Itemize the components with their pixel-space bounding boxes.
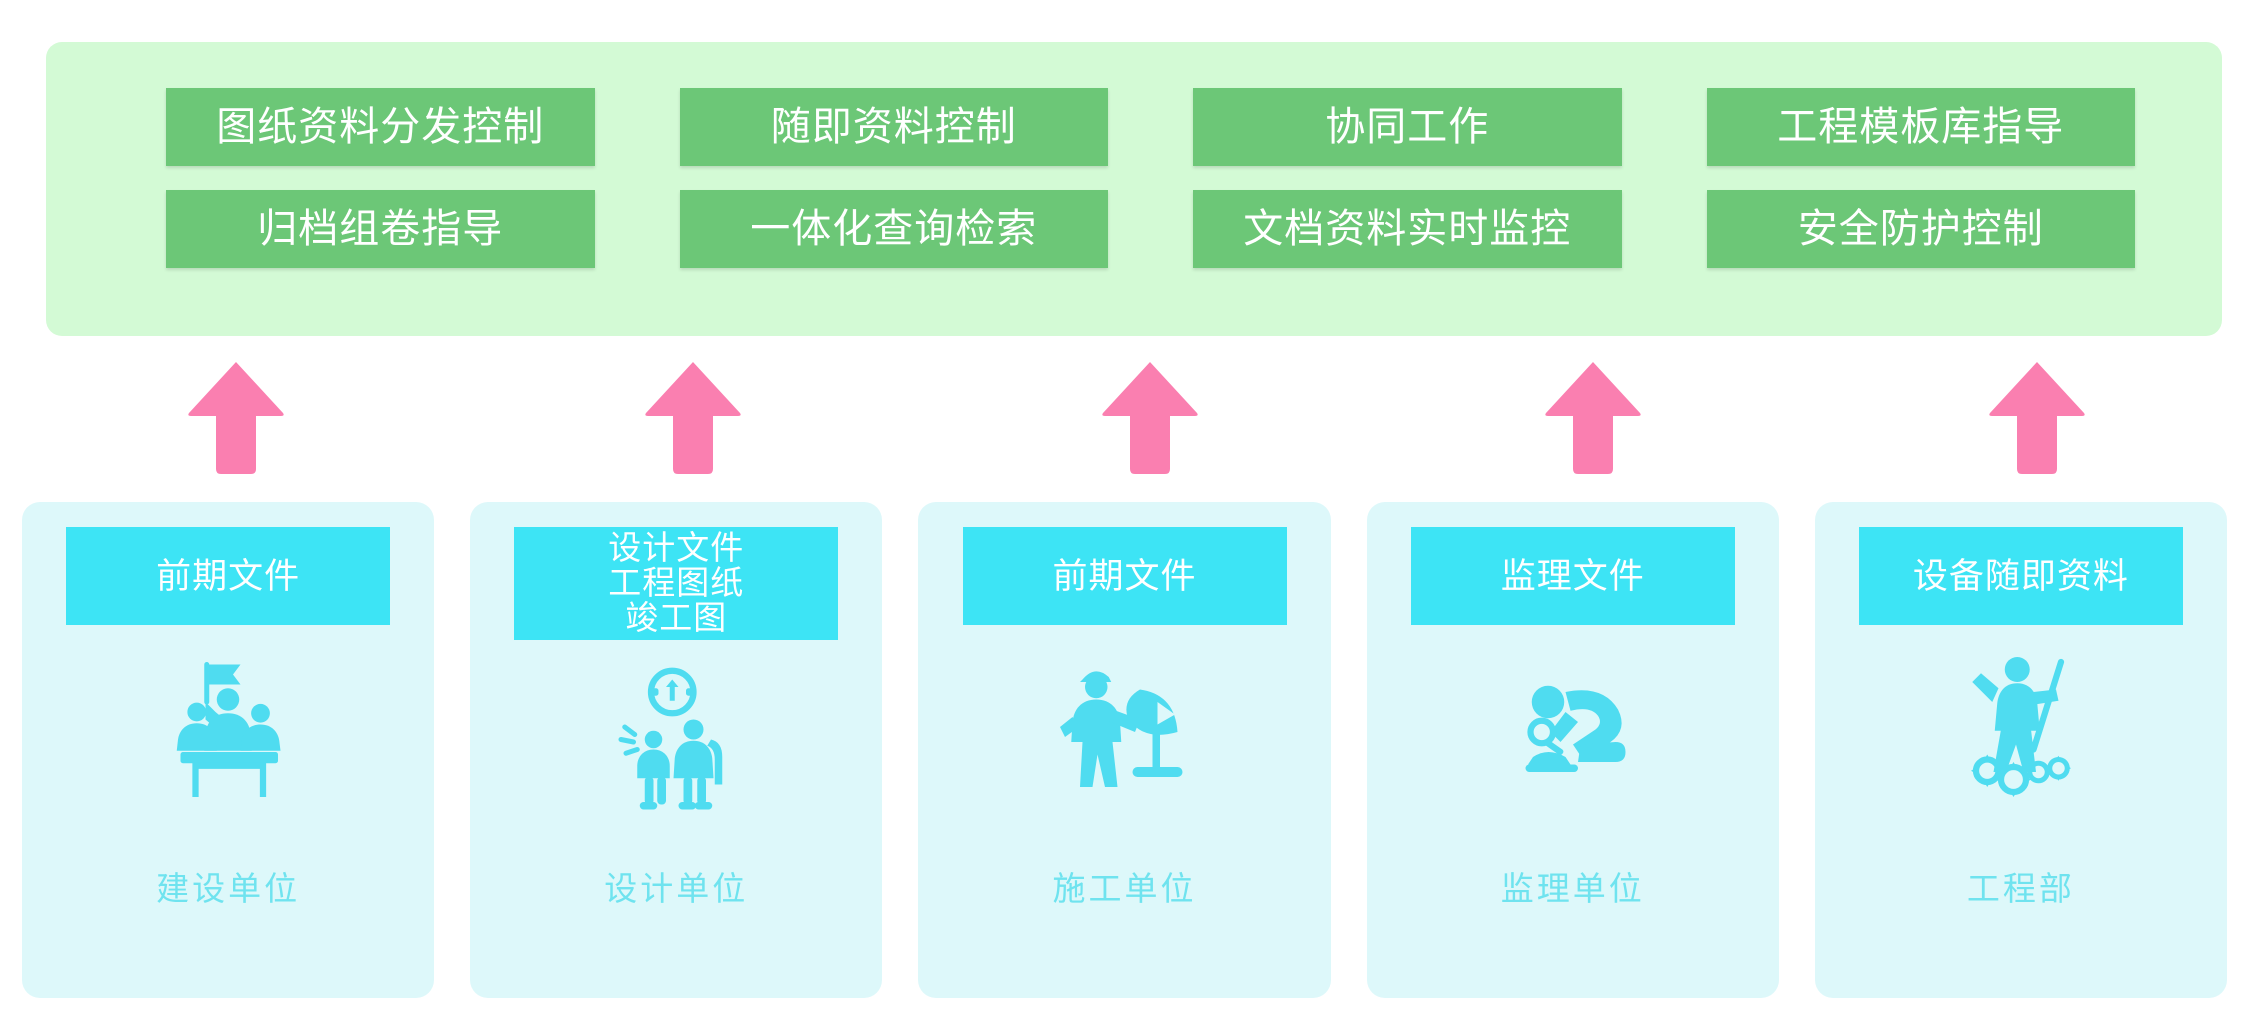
document-badge-4: 监理文件 bbox=[1411, 527, 1735, 625]
document-badge-line: 设备随即资料 bbox=[1913, 559, 2129, 594]
capability-chip-6[interactable]: 一体化查询检索 bbox=[680, 190, 1109, 268]
engineer-satellite-icon bbox=[1050, 647, 1200, 797]
up-arrow-icon-2 bbox=[643, 360, 743, 476]
designer-meeting-icon bbox=[601, 662, 751, 812]
document-badge-5: 设备随即资料 bbox=[1859, 527, 2183, 625]
capability-chip-8[interactable]: 安全防护控制 bbox=[1707, 190, 2136, 268]
participant-card-construction-unit[interactable]: 前期文件 bbox=[918, 502, 1330, 998]
capability-chip-5[interactable]: 归档组卷指导 bbox=[166, 190, 595, 268]
participant-label-2: 设计单位 bbox=[470, 862, 882, 910]
document-badge-line: 监理文件 bbox=[1501, 559, 1645, 594]
capability-grid: 图纸资料分发控制 随即资料控制 协同工作 工程模板库指导 归档组卷指导 一体化查… bbox=[166, 88, 2135, 290]
participant-card-design-unit[interactable]: 设计文件 工程图纸 竣工图 bbox=[470, 502, 882, 998]
participant-card-supervision-unit[interactable]: 监理文件 bbox=[1367, 502, 1779, 998]
document-badge-3: 前期文件 bbox=[963, 527, 1287, 625]
participant-label-3: 施工单位 bbox=[918, 862, 1330, 910]
capability-chip-2[interactable]: 随即资料控制 bbox=[680, 88, 1109, 166]
up-arrow-icon-4 bbox=[1543, 360, 1643, 476]
participant-cards-row: 前期文件 bbox=[22, 502, 2227, 998]
diagram-canvas: 图纸资料分发控制 随即资料控制 协同工作 工程模板库指导 归档组卷指导 一体化查… bbox=[0, 0, 2249, 1011]
capability-chip-1[interactable]: 图纸资料分发控制 bbox=[166, 88, 595, 166]
document-badge-1: 前期文件 bbox=[66, 527, 390, 625]
capability-chip-7[interactable]: 文档资料实时监控 bbox=[1193, 190, 1622, 268]
capability-chip-3[interactable]: 协同工作 bbox=[1193, 88, 1622, 166]
document-badge-line: 竣工图 bbox=[625, 601, 727, 636]
up-arrow-icon-1 bbox=[186, 360, 286, 476]
participant-label-4: 监理单位 bbox=[1367, 862, 1779, 910]
worker-gears-icon bbox=[1946, 647, 2096, 797]
up-arrow-icon-3 bbox=[1100, 360, 1200, 476]
document-badge-line: 前期文件 bbox=[156, 559, 300, 594]
participant-label-1: 建设单位 bbox=[22, 862, 434, 910]
document-badge-line: 设计文件 bbox=[608, 531, 744, 566]
participant-label-5: 工程部 bbox=[1815, 862, 2227, 910]
participant-card-engineering-dept[interactable]: 设备随即资料 bbox=[1815, 502, 2227, 998]
document-badge-line: 前期文件 bbox=[1052, 559, 1196, 594]
capability-panel: 图纸资料分发控制 随即资料控制 协同工作 工程模板库指导 归档组卷指导 一体化查… bbox=[46, 42, 2222, 336]
participant-card-construction-owner[interactable]: 前期文件 bbox=[22, 502, 434, 998]
inspector-magnifier-icon bbox=[1498, 647, 1648, 797]
document-badge-line: 工程图纸 bbox=[608, 566, 744, 601]
podium-speakers-icon bbox=[153, 647, 303, 797]
capability-chip-4[interactable]: 工程模板库指导 bbox=[1707, 88, 2136, 166]
document-badge-2: 设计文件 工程图纸 竣工图 bbox=[514, 527, 838, 640]
up-arrow-icon-5 bbox=[1987, 360, 2087, 476]
